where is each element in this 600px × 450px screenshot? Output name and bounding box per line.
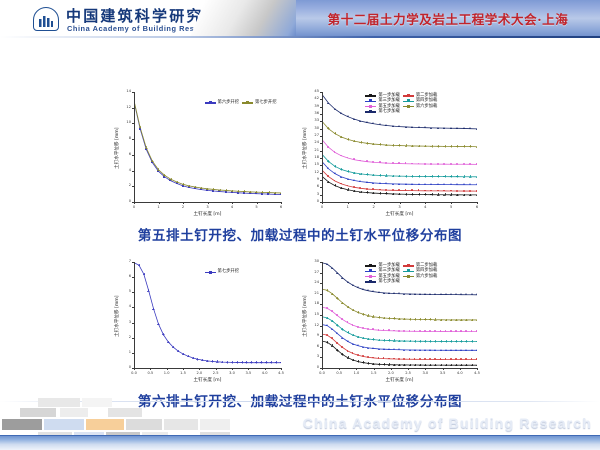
data-point-marker <box>378 339 381 342</box>
data-point-marker <box>241 361 244 364</box>
legend-item[interactable]: 第六步加载 <box>403 105 437 109</box>
x-axis-tick <box>183 368 184 370</box>
legend-swatch <box>365 281 376 282</box>
x-axis-tick-label: 3.5 <box>436 372 450 376</box>
data-point-marker <box>340 136 343 139</box>
data-point-marker <box>206 188 209 191</box>
data-point-marker <box>443 193 446 196</box>
y-axis-tick-label: 30 <box>307 127 319 131</box>
data-point-marker <box>182 353 185 356</box>
data-point-marker <box>388 363 391 366</box>
data-point-marker <box>450 163 452 165</box>
data-point-marker <box>430 145 433 148</box>
y-axis-tick-label: 3 <box>307 193 319 197</box>
data-point-marker <box>162 333 165 336</box>
data-point-marker <box>465 364 468 367</box>
data-point-marker <box>260 361 263 364</box>
y-axis-tick-label: 0 <box>307 366 319 370</box>
data-point-marker <box>379 161 381 163</box>
x-axis-tick <box>322 202 323 204</box>
y-axis-label: 土钉水平位移 [mm] <box>114 127 120 169</box>
data-point-marker <box>226 361 229 364</box>
data-point-marker <box>372 174 375 177</box>
chart-legend: 第一步加载第二步加载第三步加载第四步加载第五步加载第六步加载第七步加载 <box>365 94 477 115</box>
legend-item[interactable]: 第三步加载 <box>365 99 399 103</box>
y-axis-tick-label: 15 <box>307 313 319 317</box>
x-axis-tick <box>425 202 426 204</box>
data-point-marker <box>450 193 453 196</box>
legend-item[interactable]: 第四步加载 <box>403 99 437 103</box>
y-axis-tick <box>320 294 322 295</box>
data-point-marker <box>471 319 474 322</box>
x-axis-tick-label: 4 <box>418 206 432 210</box>
data-point-marker <box>352 343 354 345</box>
data-point-marker <box>169 178 172 181</box>
legend-swatch <box>403 101 414 102</box>
data-point-marker <box>357 360 360 363</box>
data-point-marker <box>372 338 375 341</box>
data-point-marker <box>372 347 374 349</box>
data-point-marker <box>275 361 278 364</box>
data-point-marker <box>331 337 333 339</box>
data-point-marker <box>372 192 375 195</box>
data-point-marker <box>383 363 386 366</box>
data-point-marker <box>362 337 365 340</box>
data-point-marker <box>378 291 380 293</box>
x-axis-label: 土钉长度 [m] <box>134 211 281 217</box>
data-point-marker <box>225 189 228 192</box>
data-point-marker <box>419 364 422 367</box>
x-axis-label: 土钉长度 [m] <box>322 211 477 217</box>
data-point-marker <box>327 146 329 148</box>
x-axis-tick <box>257 202 258 204</box>
data-point-marker <box>476 330 477 332</box>
data-point-marker <box>176 181 179 184</box>
data-point-marker <box>378 348 380 350</box>
x-axis-tick <box>408 368 409 370</box>
data-point-marker <box>450 319 453 322</box>
data-point-marker <box>437 183 439 185</box>
data-point-marker <box>469 163 471 165</box>
data-point-marker <box>326 307 328 309</box>
data-point-marker <box>460 293 462 295</box>
data-point-marker <box>340 176 342 178</box>
data-point-marker <box>471 293 473 295</box>
data-point-marker <box>177 350 180 353</box>
y-axis-tick <box>320 173 322 174</box>
data-point-marker <box>157 323 160 326</box>
data-point-marker <box>403 293 405 295</box>
data-point-marker <box>398 364 401 367</box>
data-point-marker <box>336 342 338 344</box>
y-axis-tick <box>320 99 322 100</box>
y-axis-tick-label: 4 <box>119 169 131 173</box>
mosaic-block <box>38 398 80 407</box>
x-axis-tick-label: 2 <box>176 206 190 210</box>
data-point-marker <box>445 364 448 367</box>
data-point-marker <box>327 167 329 169</box>
chart-bottom-left: 0.00.51.01.52.02.53.03.54.04.501234567土钉… <box>108 256 286 388</box>
data-point-marker <box>347 138 350 141</box>
data-point-marker <box>231 190 234 193</box>
y-axis <box>322 92 323 202</box>
data-point-marker <box>434 318 437 321</box>
x-axis-tick-label: 0.5 <box>332 372 346 376</box>
data-point-marker <box>353 179 355 181</box>
y-axis-tick-label: 0 <box>119 200 131 204</box>
data-point-marker <box>359 141 362 144</box>
data-point-marker <box>378 316 381 319</box>
data-point-marker <box>419 293 421 295</box>
data-point-marker <box>334 108 336 110</box>
legend-swatch <box>403 265 414 266</box>
legend-item[interactable]: 第七步开挖 <box>205 270 239 274</box>
x-axis-tick-label: 3.0 <box>418 372 432 376</box>
data-point-marker <box>445 340 448 343</box>
data-point-marker <box>347 281 349 283</box>
legend-item[interactable]: 第六步加载 <box>403 275 437 279</box>
x-axis-tick <box>460 368 461 370</box>
header-left-brand: 中国建筑科学研究院 China Academy of Building Rese… <box>0 0 215 38</box>
x-axis-tick-label: 2.5 <box>209 372 223 376</box>
x-axis-tick <box>477 202 478 204</box>
x-axis-tick-label: 3 <box>393 206 407 210</box>
x-axis-tick-label: 0 <box>127 206 141 210</box>
x-axis-tick <box>208 202 209 204</box>
data-point-marker <box>341 337 343 339</box>
data-point-marker <box>327 175 329 177</box>
data-point-marker <box>440 340 443 343</box>
data-point-marker <box>455 364 458 367</box>
data-point-marker <box>450 330 452 332</box>
data-point-marker <box>357 336 360 339</box>
data-point-marker <box>331 310 333 312</box>
conference-title: 第十二届土力学及岩土工程学术大会·上海 <box>296 9 600 28</box>
data-point-marker <box>261 191 264 194</box>
y-axis-tick <box>132 292 134 293</box>
data-point-marker <box>372 182 374 184</box>
y-axis-tick-label: 3 <box>119 321 131 325</box>
data-point-marker <box>388 339 391 342</box>
x-axis-tick <box>477 368 478 370</box>
legend-item[interactable]: 第六步开挖 <box>205 101 239 105</box>
data-point-marker <box>359 180 361 182</box>
legend-swatch <box>403 276 414 277</box>
y-axis-tick <box>320 195 322 196</box>
data-point-marker <box>456 163 458 165</box>
data-point-marker <box>405 126 407 128</box>
y-axis-tick-label: 9 <box>307 178 319 182</box>
x-axis-tick <box>150 368 151 370</box>
y-axis-tick <box>320 304 322 305</box>
data-point-marker <box>353 140 356 143</box>
x-axis-tick <box>199 368 200 370</box>
data-point-marker <box>192 357 195 360</box>
data-point-marker <box>403 358 405 360</box>
legend-item[interactable]: 第七步加载 <box>365 280 399 284</box>
data-point-marker <box>334 172 336 174</box>
data-point-marker <box>194 186 197 189</box>
x-axis-tick-label: 4.0 <box>453 372 467 376</box>
x-axis-tick-label: 2 <box>367 206 381 210</box>
data-point-marker <box>366 181 368 183</box>
x-axis-tick <box>443 368 444 370</box>
data-point-marker <box>367 328 369 330</box>
x-axis-label: 土钉长度 [m] <box>322 377 477 383</box>
data-point-marker <box>440 349 442 351</box>
data-point-marker <box>385 124 387 126</box>
data-point-marker <box>411 175 414 178</box>
data-point-marker <box>405 193 408 196</box>
data-point-marker <box>327 160 330 163</box>
x-axis-tick-label: 2.0 <box>384 372 398 376</box>
y-axis-tick-label: 6 <box>119 153 131 157</box>
data-point-marker <box>476 145 477 148</box>
y-axis-tick <box>132 353 134 354</box>
y-axis-tick-label: 45 <box>307 90 319 94</box>
data-point-marker <box>152 308 155 311</box>
y-axis-tick <box>320 273 322 274</box>
data-point-marker <box>424 364 427 367</box>
y-axis-tick-label: 27 <box>307 134 319 138</box>
legend-label: 第七步开挖 <box>255 101 276 105</box>
data-point-marker <box>411 126 413 128</box>
legend-swatch <box>403 95 414 96</box>
data-point-marker <box>379 182 381 184</box>
data-point-marker <box>403 340 406 343</box>
legend-label: 第四步加载 <box>416 269 437 273</box>
data-point-marker <box>403 318 406 321</box>
data-point-marker <box>255 191 258 194</box>
x-axis-tick <box>232 368 233 370</box>
y-axis-tick-label: 3 <box>307 355 319 359</box>
y-axis-tick <box>132 186 134 187</box>
y-axis-tick <box>320 180 322 181</box>
data-point-marker <box>366 191 369 194</box>
data-point-marker <box>424 163 426 165</box>
data-point-marker <box>450 293 452 295</box>
y-axis-tick-label: 18 <box>307 156 319 160</box>
y-axis-tick <box>320 92 322 93</box>
chart-top-left: 012345602468101214土钉长度 [m]土钉水平位移 [mm]第六步… <box>108 86 286 222</box>
data-point-marker <box>392 162 394 164</box>
legend-item[interactable]: 第四步加载 <box>403 269 437 273</box>
legend-swatch <box>365 95 376 96</box>
data-point-marker <box>430 193 433 196</box>
legend-swatch <box>365 101 376 102</box>
data-point-marker <box>274 192 277 195</box>
slide-header: 中国建筑科学研究院 China Academy of Building Rese… <box>0 0 600 38</box>
data-point-marker <box>367 314 370 317</box>
x-axis-tick <box>134 368 135 370</box>
data-point-marker <box>471 349 473 351</box>
data-point-marker <box>206 360 209 363</box>
data-point-marker <box>456 183 458 185</box>
data-point-marker <box>182 183 185 186</box>
y-axis-tick <box>132 338 134 339</box>
data-point-marker <box>366 160 368 162</box>
data-point-marker <box>430 183 432 185</box>
legend-item[interactable]: 第七步加载 <box>365 110 399 114</box>
data-point-marker <box>340 112 342 114</box>
data-point-marker <box>327 102 329 104</box>
data-point-marker <box>450 340 453 343</box>
x-axis-tick-label: 1.5 <box>367 372 381 376</box>
x-axis-tick <box>391 368 392 370</box>
y-axis-tick <box>132 262 134 263</box>
x-axis-tick <box>183 202 184 204</box>
data-point-marker <box>445 293 447 295</box>
data-point-marker <box>398 358 400 360</box>
data-point-marker <box>392 125 394 127</box>
legend-label: 第七步加载 <box>378 110 399 114</box>
legend-swatch <box>365 265 376 266</box>
data-point-marker <box>419 340 422 343</box>
slide-root: 中国建筑科学研究院 China Academy of Building Rese… <box>0 0 600 450</box>
y-axis-tick-label: 15 <box>307 163 319 167</box>
data-point-marker <box>424 330 426 332</box>
data-point-marker <box>383 339 386 342</box>
x-axis-tick-label: 3.5 <box>241 372 255 376</box>
data-point-marker <box>476 340 477 343</box>
data-point-marker <box>443 175 446 178</box>
data-point-marker <box>476 128 477 130</box>
data-point-marker <box>367 289 369 291</box>
data-point-marker <box>409 349 411 351</box>
data-point-marker <box>434 364 437 367</box>
data-point-marker <box>460 358 462 360</box>
legend-swatch <box>205 102 216 103</box>
data-point-marker <box>334 132 337 135</box>
data-point-marker <box>456 127 458 129</box>
mosaic-block <box>2 419 42 430</box>
x-axis-tick-label: 0 <box>315 206 329 210</box>
y-axis-tick-label: 1 <box>119 351 131 355</box>
x-axis-tick <box>167 368 168 370</box>
data-point-marker <box>392 183 394 185</box>
y-axis-tick-label: 0 <box>119 366 131 370</box>
data-point-marker <box>392 189 394 191</box>
data-point-marker <box>201 359 204 362</box>
data-point-marker <box>455 358 457 360</box>
data-point-marker <box>430 127 432 129</box>
series-line <box>134 263 281 363</box>
data-point-marker <box>392 193 395 196</box>
data-point-marker <box>231 361 234 364</box>
y-axis-tick-label: 42 <box>307 97 319 101</box>
data-point-marker <box>419 318 422 321</box>
y-axis <box>134 262 135 368</box>
data-point-marker <box>372 363 375 366</box>
legend-swatch <box>403 106 414 107</box>
y-axis-tick <box>132 92 134 93</box>
data-point-marker <box>359 173 362 176</box>
data-point-marker <box>456 175 459 178</box>
data-point-marker <box>157 168 160 171</box>
data-point-marker <box>340 187 343 190</box>
y-axis-tick-label: 7 <box>119 260 131 264</box>
x-axis-tick <box>265 368 266 370</box>
data-point-marker <box>424 340 427 343</box>
data-point-marker <box>409 318 412 321</box>
y-axis-tick-label: 33 <box>307 119 319 123</box>
data-point-marker <box>443 163 445 165</box>
y-axis-tick-label: 0 <box>307 200 319 204</box>
legend-item[interactable]: 第三步加载 <box>365 269 399 273</box>
data-point-marker <box>249 191 252 194</box>
data-point-marker <box>341 302 344 305</box>
mosaic-block <box>82 398 112 407</box>
data-point-marker <box>405 175 408 178</box>
data-point-marker <box>388 348 390 350</box>
data-point-marker <box>456 194 459 197</box>
data-point-marker <box>145 146 148 149</box>
data-point-marker <box>398 125 400 127</box>
legend-item[interactable]: 第七步开挖 <box>242 101 276 105</box>
data-point-marker <box>456 145 459 148</box>
data-point-marker <box>476 183 477 185</box>
y-axis-tick-label: 8 <box>119 137 131 141</box>
data-point-marker <box>418 175 421 178</box>
data-point-marker <box>424 193 427 196</box>
data-point-marker <box>366 142 369 145</box>
data-point-marker <box>469 127 471 129</box>
x-axis-tick-label: 5 <box>444 206 458 210</box>
data-point-marker <box>385 174 388 177</box>
data-point-marker <box>437 175 440 178</box>
data-point-marker <box>385 144 388 147</box>
data-point-marker <box>347 306 350 309</box>
data-point-marker <box>476 194 477 197</box>
data-point-marker <box>456 190 458 192</box>
y-axis-tick-label: 10 <box>119 121 131 125</box>
x-axis-tick <box>134 202 135 204</box>
data-point-marker <box>362 361 365 364</box>
y-axis <box>322 262 323 368</box>
data-point-marker <box>326 263 328 265</box>
data-point-marker <box>419 330 421 332</box>
data-point-marker <box>280 361 281 364</box>
data-point-marker <box>334 165 337 168</box>
data-point-marker <box>357 354 359 356</box>
data-point-marker <box>366 188 368 190</box>
data-point-marker <box>450 183 452 185</box>
data-point-marker <box>424 145 427 148</box>
series-line <box>322 170 477 191</box>
series-line <box>322 162 477 185</box>
x-axis-tick-label: 1 <box>341 206 355 210</box>
y-axis-tick-label: 14 <box>119 90 131 94</box>
data-point-marker <box>429 340 432 343</box>
data-point-marker <box>379 174 382 177</box>
data-point-marker <box>326 317 329 320</box>
data-point-marker <box>357 344 359 346</box>
data-point-marker <box>172 346 175 349</box>
y-axis-tick-label: 9 <box>307 334 319 338</box>
data-point-marker <box>347 188 350 191</box>
mosaic-block <box>20 408 56 417</box>
data-point-marker <box>434 340 437 343</box>
x-axis-tick-label: 6 <box>470 206 484 210</box>
data-point-marker <box>352 359 355 362</box>
y-axis-tick <box>132 108 134 109</box>
data-point-marker <box>411 183 413 185</box>
data-point-marker <box>450 127 452 129</box>
data-point-marker <box>243 190 246 193</box>
x-axis-tick-label: 1 <box>152 206 166 210</box>
data-point-marker <box>331 293 334 296</box>
y-axis-tick <box>132 139 134 140</box>
